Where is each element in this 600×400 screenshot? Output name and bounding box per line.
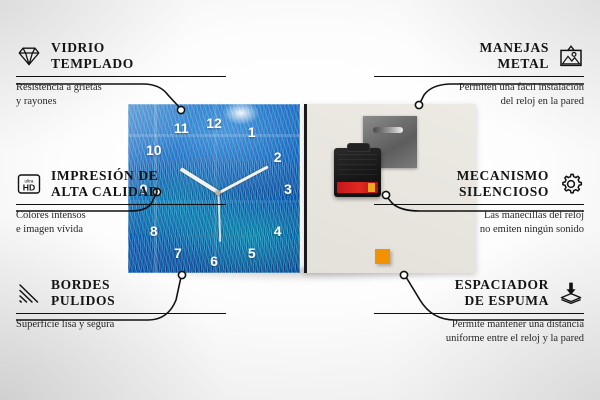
mechanism-ridges <box>338 154 377 178</box>
callout-rule <box>16 313 226 315</box>
clock-numeral-11: 11 <box>174 121 189 135</box>
clock-numeral-4: 4 <box>274 224 282 238</box>
callout-title-line1: VIDRIO <box>51 40 105 55</box>
clock-numeral-3: 3 <box>284 182 292 196</box>
callout-subtitle-line2: uniforme entre el reloj y la pared <box>446 333 584 344</box>
callout-subtitle: Colores intensos e imagen vívida <box>16 209 226 237</box>
callout-rule <box>374 313 584 315</box>
clock-numeral-2: 2 <box>274 150 282 164</box>
callout-title-line1: MANEJAS <box>480 40 549 55</box>
callout-title-line1: ESPACIADOR <box>455 277 549 292</box>
callout-subtitle-line2: e imagen vívida <box>16 224 83 235</box>
callout-title-line1: MECANISMO <box>457 168 549 183</box>
clock-numeral-5: 5 <box>248 246 256 260</box>
callout-subtitle-line2: del reloj en la pared <box>501 96 584 107</box>
callout-subtitle: Permiten una fácil instalación del reloj… <box>374 81 584 109</box>
callout-title-line2: ALTA CALIDAD <box>51 184 159 199</box>
callout-title-line2: SILENCIOSO <box>459 184 549 199</box>
glass-highlight <box>221 104 261 126</box>
callout-title-line2: PULIDOS <box>51 293 115 308</box>
hanger-slot <box>373 127 403 133</box>
callout-title: ESPACIADOR DE ESPUMA <box>455 277 549 309</box>
callout-subtitle: Permite mantener una distancia uniforme … <box>374 318 584 346</box>
callout-title: IMPRESIÓN DE ALTA CALIDAD <box>51 168 159 200</box>
clock-numeral-7: 7 <box>174 246 182 260</box>
callout-subtitle-line2: y rayones <box>16 96 57 107</box>
clock-numeral-12: 12 <box>206 116 222 130</box>
callout-rule <box>16 76 226 78</box>
infographic-canvas: 12 1 2 3 4 5 6 7 8 9 10 11 <box>0 0 600 400</box>
foam-spacer-arrow-icon <box>558 280 584 306</box>
gear-icon <box>558 171 584 197</box>
svg-text:HD: HD <box>23 182 35 192</box>
callout-mecanismo-silencioso: MECANISMO SILENCIOSO Las manecillas del … <box>374 168 584 237</box>
callout-title: MECANISMO SILENCIOSO <box>457 168 549 200</box>
mechanism-hook-tab <box>347 143 370 152</box>
foam-spacer-pad <box>375 249 390 264</box>
callout-title: BORDES PULIDOS <box>51 277 115 309</box>
callout-subtitle-line1: Superficie lisa y segura <box>16 319 114 330</box>
callout-rule <box>374 76 584 78</box>
clock-numeral-6: 6 <box>210 254 218 268</box>
callout-espaciador-espuma: ESPACIADOR DE ESPUMA Permite mantener un… <box>374 277 584 346</box>
framed-picture-hanger-icon <box>558 43 584 69</box>
ultra-hd-badge-icon: ultra HD <box>16 171 42 197</box>
callout-subtitle-line1: Resistencia a grietas <box>16 82 102 93</box>
callout-title: MANEJAS METAL <box>480 40 549 72</box>
callout-subtitle-line1: Las manecillas del reloj <box>484 210 584 221</box>
clock-numeral-10: 10 <box>146 143 162 157</box>
callout-title-line1: BORDES <box>51 277 110 292</box>
callout-subtitle: Resistencia a grietas y rayones <box>16 81 226 109</box>
callout-bordes-pulidos: BORDES PULIDOS Superficie lisa y segura <box>16 277 226 332</box>
callout-vidrio-templado: VIDRIO TEMPLADO Resistencia a grietas y … <box>16 40 226 109</box>
callout-rule <box>16 204 226 206</box>
clock-numeral-1: 1 <box>248 125 256 139</box>
callout-rule <box>374 204 584 206</box>
callout-subtitle: Superficie lisa y segura <box>16 318 226 332</box>
callout-title-line2: METAL <box>497 56 549 71</box>
callout-title-line2: TEMPLADO <box>51 56 134 71</box>
callout-title: VIDRIO TEMPLADO <box>51 40 134 72</box>
diamond-icon <box>16 43 42 69</box>
callout-subtitle-line2: no emiten ningún sonido <box>480 224 584 235</box>
callout-impresion-alta-calidad: ultra HD IMPRESIÓN DE ALTA CALIDAD Color… <box>16 168 226 237</box>
callout-title-line2: DE ESPUMA <box>464 293 549 308</box>
callout-manejas-metal: MANEJAS METAL Permiten una fácil instala… <box>374 40 584 109</box>
polished-edges-icon <box>16 280 42 306</box>
callout-subtitle: Las manecillas del reloj no emiten ningú… <box>374 209 584 237</box>
battery-label <box>337 182 378 193</box>
callout-subtitle-line1: Permite mantener una distancia <box>452 319 584 330</box>
callout-subtitle-line1: Permiten una fácil instalación <box>459 82 584 93</box>
callout-subtitle-line1: Colores intensos <box>16 210 86 221</box>
callout-title-line1: IMPRESIÓN DE <box>51 168 158 183</box>
